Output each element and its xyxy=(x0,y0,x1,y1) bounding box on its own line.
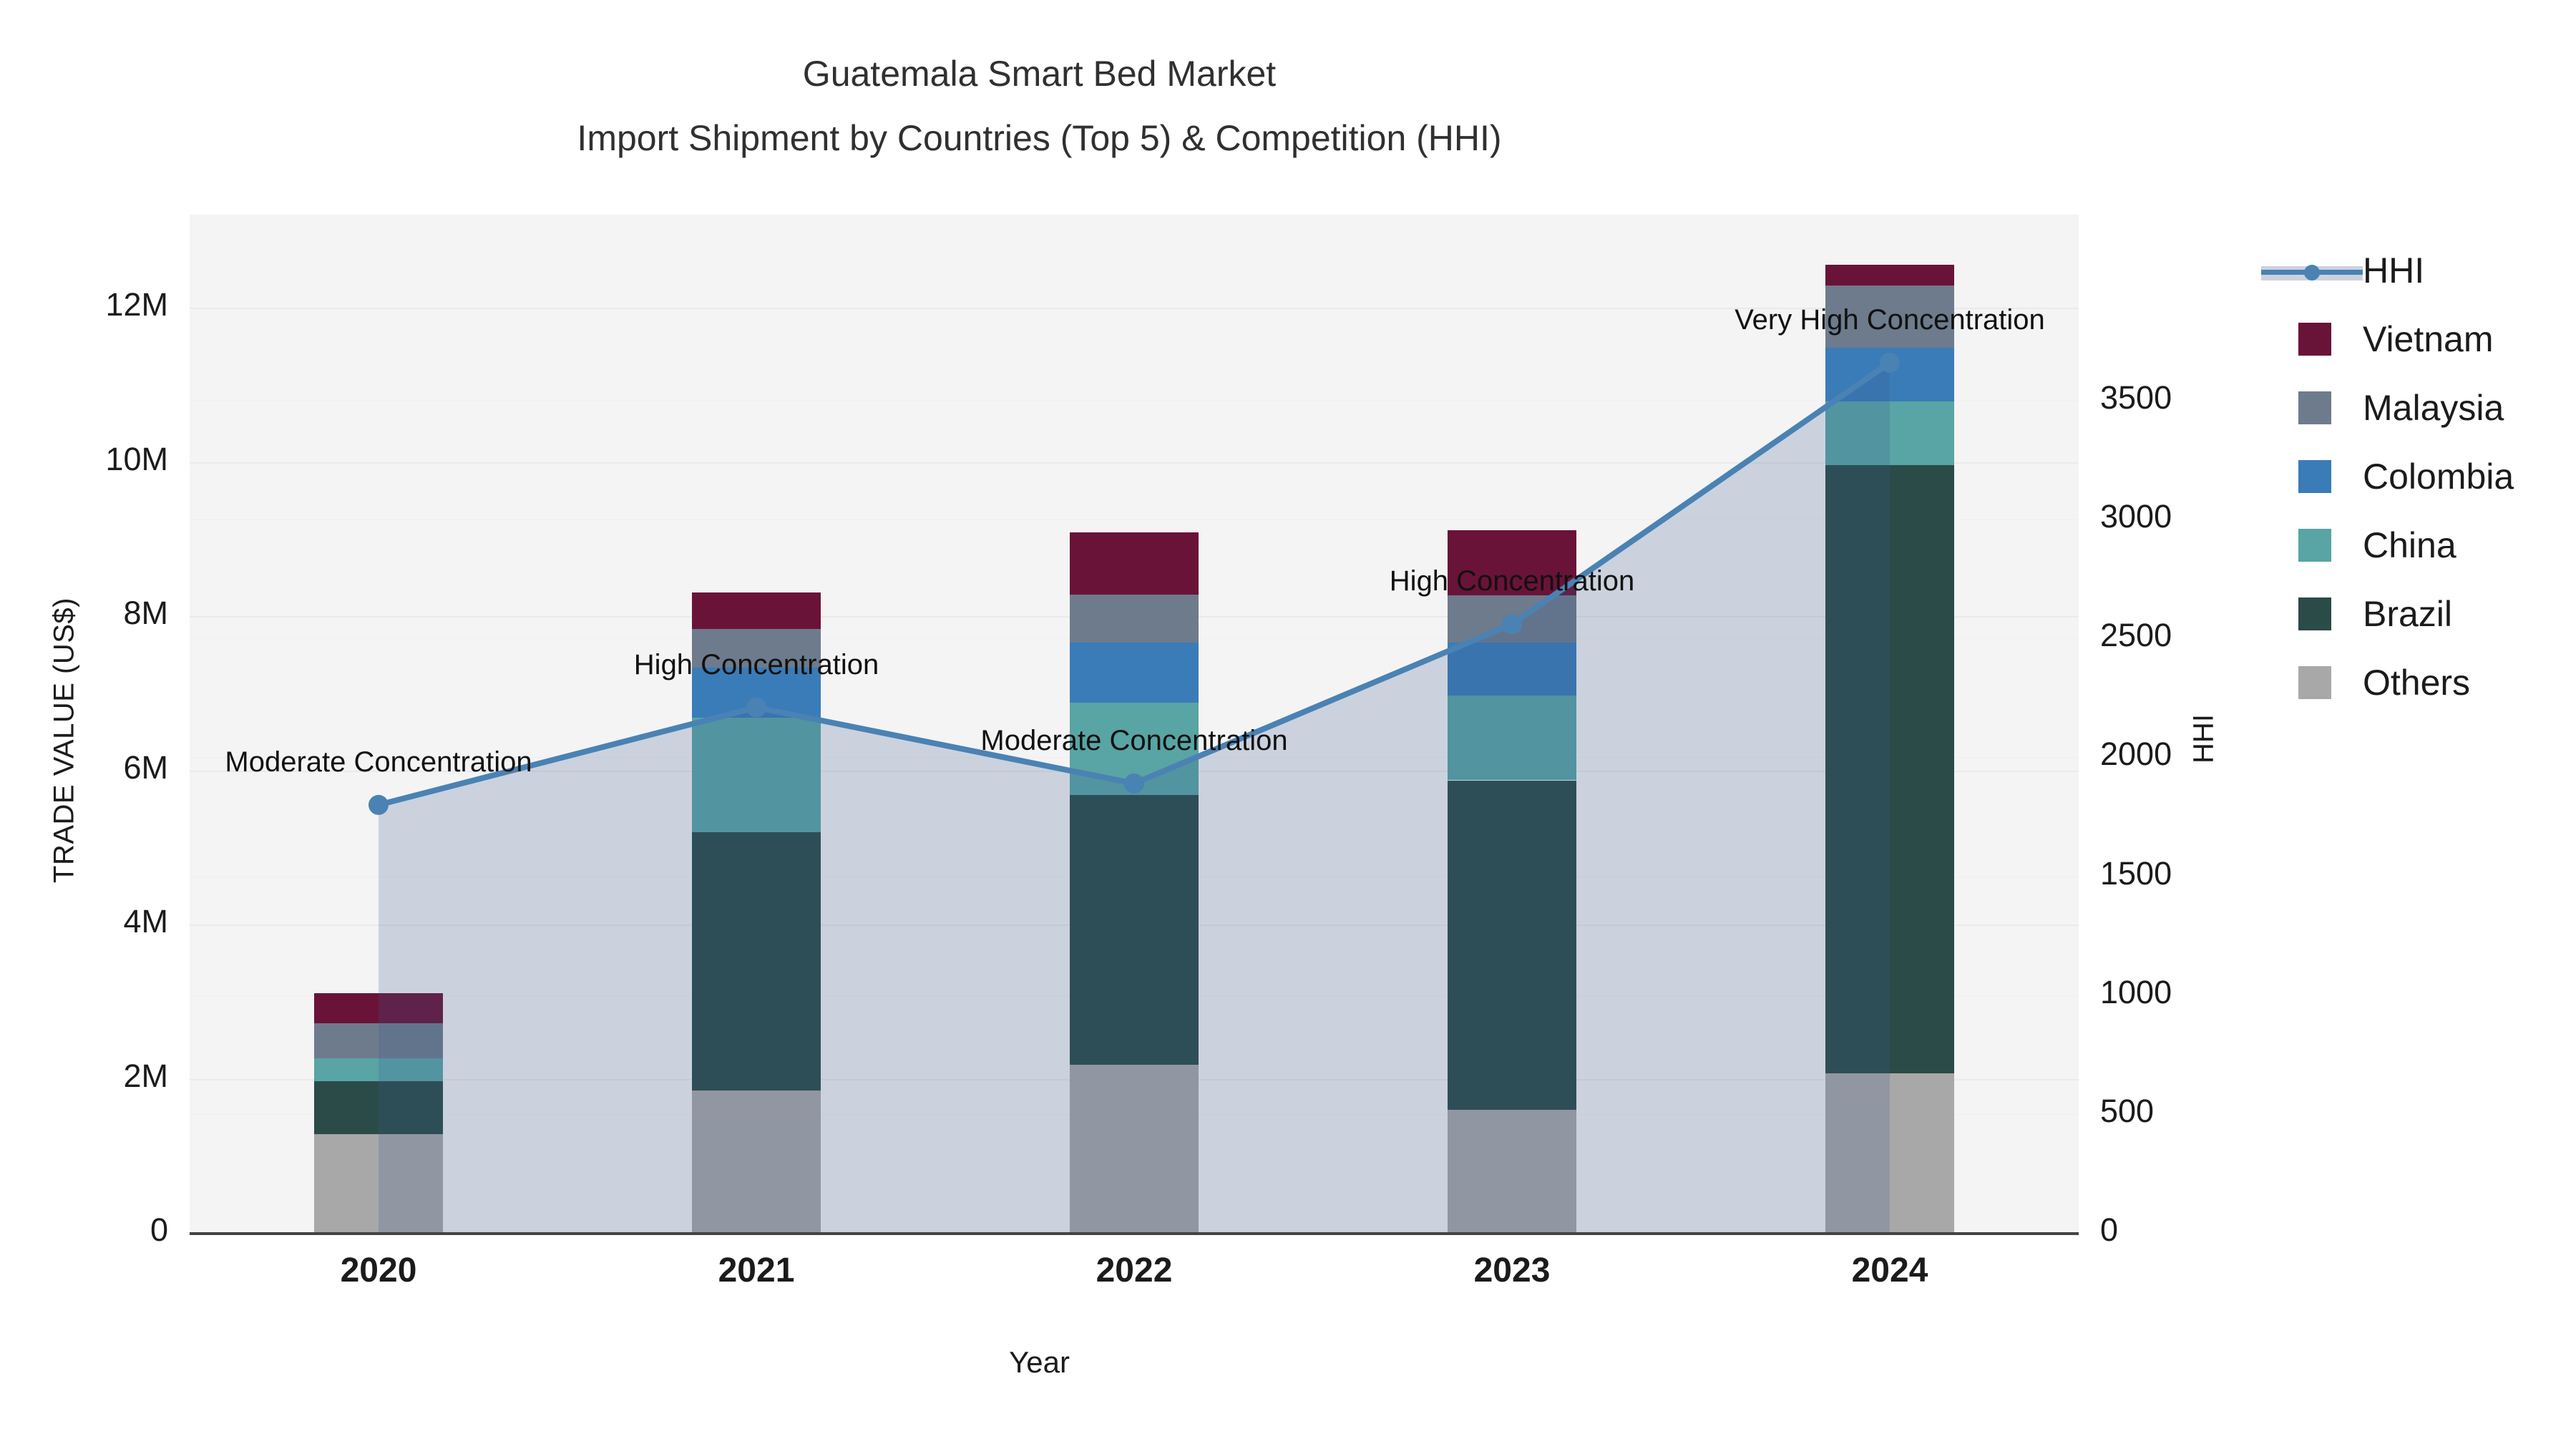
legend-item-china[interactable]: China xyxy=(2261,511,2514,580)
x-axis-line xyxy=(190,1232,2079,1235)
legend-swatch-colombia xyxy=(2298,460,2331,493)
y-axis-title-left: TRADE VALUE (US$) xyxy=(49,512,81,970)
y-axis-tick-left: 4M xyxy=(11,903,168,940)
y-axis-tick-left: 8M xyxy=(11,595,168,632)
legend-label: Brazil xyxy=(2363,593,2452,635)
x-axis-tick-2021: 2021 xyxy=(649,1251,864,1290)
hhi-marker-2022[interactable] xyxy=(1124,774,1144,794)
y-axis-tick-left: 0 xyxy=(11,1211,168,1249)
hhi-marker-2024[interactable] xyxy=(1880,353,1900,373)
legend-label: Vietnam xyxy=(2363,318,2494,360)
legend-swatch-others xyxy=(2298,666,2331,699)
legend-item-hhi[interactable]: HHI xyxy=(2261,236,2514,305)
legend-item-brazil[interactable]: Brazil xyxy=(2261,580,2514,648)
legend-label: Malaysia xyxy=(2363,387,2504,429)
y-axis-tick-left: 6M xyxy=(11,749,168,786)
x-axis-tick-2020: 2020 xyxy=(271,1251,486,1290)
y-axis-tick-right: 2500 xyxy=(2100,617,2286,654)
y-axis-tick-right: 3000 xyxy=(2100,498,2286,535)
legend-swatch-vietnam xyxy=(2298,323,2331,356)
legend-label: HHI xyxy=(2363,250,2424,291)
legend-item-others[interactable]: Others xyxy=(2261,648,2514,717)
legend-item-colombia[interactable]: Colombia xyxy=(2261,442,2514,511)
legend-label: China xyxy=(2363,525,2457,566)
x-axis-tick-2022: 2022 xyxy=(1027,1251,1241,1290)
annotation-2024: Very High Concentration xyxy=(1735,304,2045,336)
hhi-line-icon xyxy=(2261,254,2363,287)
hhi-area-fill xyxy=(379,363,1890,1233)
y-axis-tick-right: 3500 xyxy=(2100,379,2286,416)
legend-swatch-china xyxy=(2298,529,2331,562)
y-axis-tick-left: 12M xyxy=(11,286,168,323)
legend-label: Colombia xyxy=(2363,456,2514,497)
annotation-2023: High Concentration xyxy=(1390,565,1634,597)
hhi-marker-2021[interactable] xyxy=(746,698,766,718)
x-axis-title: Year xyxy=(0,1345,2079,1380)
legend-label: Others xyxy=(2363,662,2470,703)
hhi-marker-2020[interactable] xyxy=(369,795,389,815)
y-axis-tick-right: 1000 xyxy=(2100,974,2286,1011)
x-axis-tick-2023: 2023 xyxy=(1405,1251,1619,1290)
annotation-2021: High Concentration xyxy=(634,649,879,681)
y-axis-tick-right: 0 xyxy=(2100,1211,2286,1249)
annotation-2020: Moderate Concentration xyxy=(225,746,532,779)
legend: HHIVietnamMalaysiaColombiaChinaBrazilOth… xyxy=(2261,236,2514,717)
legend-item-malaysia[interactable]: Malaysia xyxy=(2261,374,2514,442)
y-axis-tick-right: 500 xyxy=(2100,1093,2286,1130)
y-axis-tick-left: 10M xyxy=(11,441,168,478)
y-axis-title-right: HHI xyxy=(2188,668,2220,811)
legend-swatch-brazil xyxy=(2298,597,2331,630)
y-axis-tick-right: 1500 xyxy=(2100,855,2286,892)
hhi-marker-2023[interactable] xyxy=(1502,614,1522,634)
x-axis-tick-2024: 2024 xyxy=(1782,1251,1997,1290)
legend-swatch-malaysia xyxy=(2298,391,2331,424)
y-axis-tick-left: 2M xyxy=(11,1058,168,1095)
annotation-2022: Moderate Concentration xyxy=(980,725,1287,757)
legend-item-vietnam[interactable]: Vietnam xyxy=(2261,305,2514,374)
